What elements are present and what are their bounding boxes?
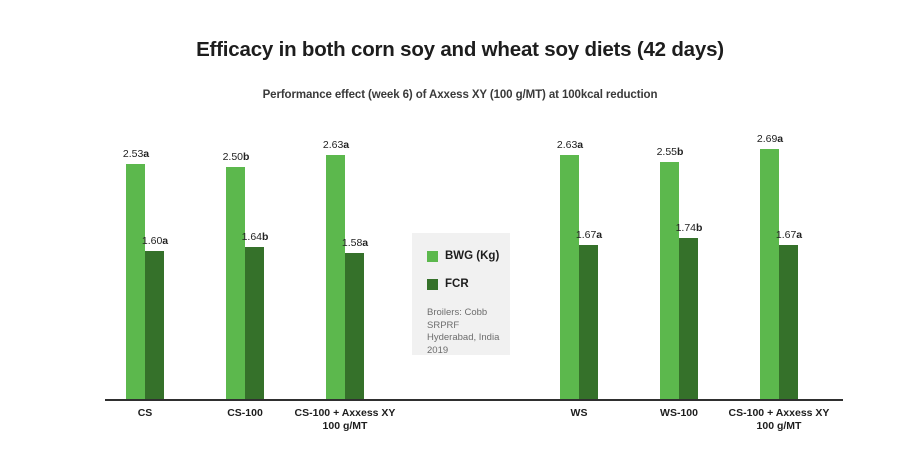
bar-value-label: 1.74b (644, 222, 734, 234)
legend-swatch-fcr (427, 279, 438, 290)
bar-value-label: 2.50b (191, 151, 281, 163)
bar-bwg[interactable] (660, 162, 679, 401)
bar-fcr[interactable] (779, 245, 798, 401)
bar-value-label: 2.53a (91, 148, 181, 160)
bar-group: 2.63a1.58a (326, 120, 364, 401)
bar-fcr[interactable] (145, 251, 164, 401)
bar-fcr[interactable] (579, 245, 598, 401)
legend-label-fcr: FCR (445, 278, 469, 290)
bar-value-label: 1.67a (544, 229, 634, 241)
legend-item-fcr[interactable]: FCR (427, 278, 469, 290)
x-axis-line (105, 399, 843, 401)
bar-value-label: 2.69a (725, 133, 815, 145)
bar-value-label: 1.67a (744, 229, 834, 241)
bar-bwg[interactable] (326, 155, 345, 401)
bar-group: 2.55b1.74b (660, 120, 698, 401)
bar-value-label: 1.60a (110, 235, 200, 247)
bar-fcr[interactable] (345, 253, 364, 401)
page-title: Efficacy in both corn soy and wheat soy … (0, 38, 920, 62)
legend-item-bwg[interactable]: BWG (Kg) (427, 250, 499, 262)
bar-value-label: 2.63a (525, 139, 615, 151)
bar-chart: Efficacy in both corn soy and wheat soy … (0, 0, 920, 473)
bar-value-label: 2.63a (291, 139, 381, 151)
chart-legend: BWG (Kg) FCR Broilers: Cobb SRPRF Hydera… (412, 233, 510, 355)
bar-bwg[interactable] (760, 149, 779, 401)
bar-bwg[interactable] (126, 164, 145, 401)
legend-swatch-bwg (427, 251, 438, 262)
bar-bwg[interactable] (226, 167, 245, 401)
bar-group: 2.63a1.67a (560, 120, 598, 401)
legend-label-bwg: BWG (Kg) (445, 250, 499, 262)
bar-group: 2.50b1.64b (226, 120, 264, 401)
bar-group: 2.53a1.60a (126, 120, 164, 401)
bar-value-label: 2.55b (625, 146, 715, 158)
legend-note: Broilers: Cobb SRPRF Hyderabad, India 20… (427, 307, 507, 357)
bar-group: 2.69a1.67a (760, 120, 798, 401)
category-label: CS-100 + Axxess XY100 g/MT (270, 407, 420, 433)
bar-value-label: 1.58a (310, 237, 400, 249)
category-label: CS-100 + Axxess XY100 g/MT (704, 407, 854, 433)
bar-bwg[interactable] (560, 155, 579, 401)
chart-subtitle: Performance effect (week 6) of Axxess XY… (0, 89, 920, 101)
bar-value-label: 1.64b (210, 231, 300, 243)
bar-fcr[interactable] (245, 247, 264, 401)
bar-fcr[interactable] (679, 238, 698, 401)
